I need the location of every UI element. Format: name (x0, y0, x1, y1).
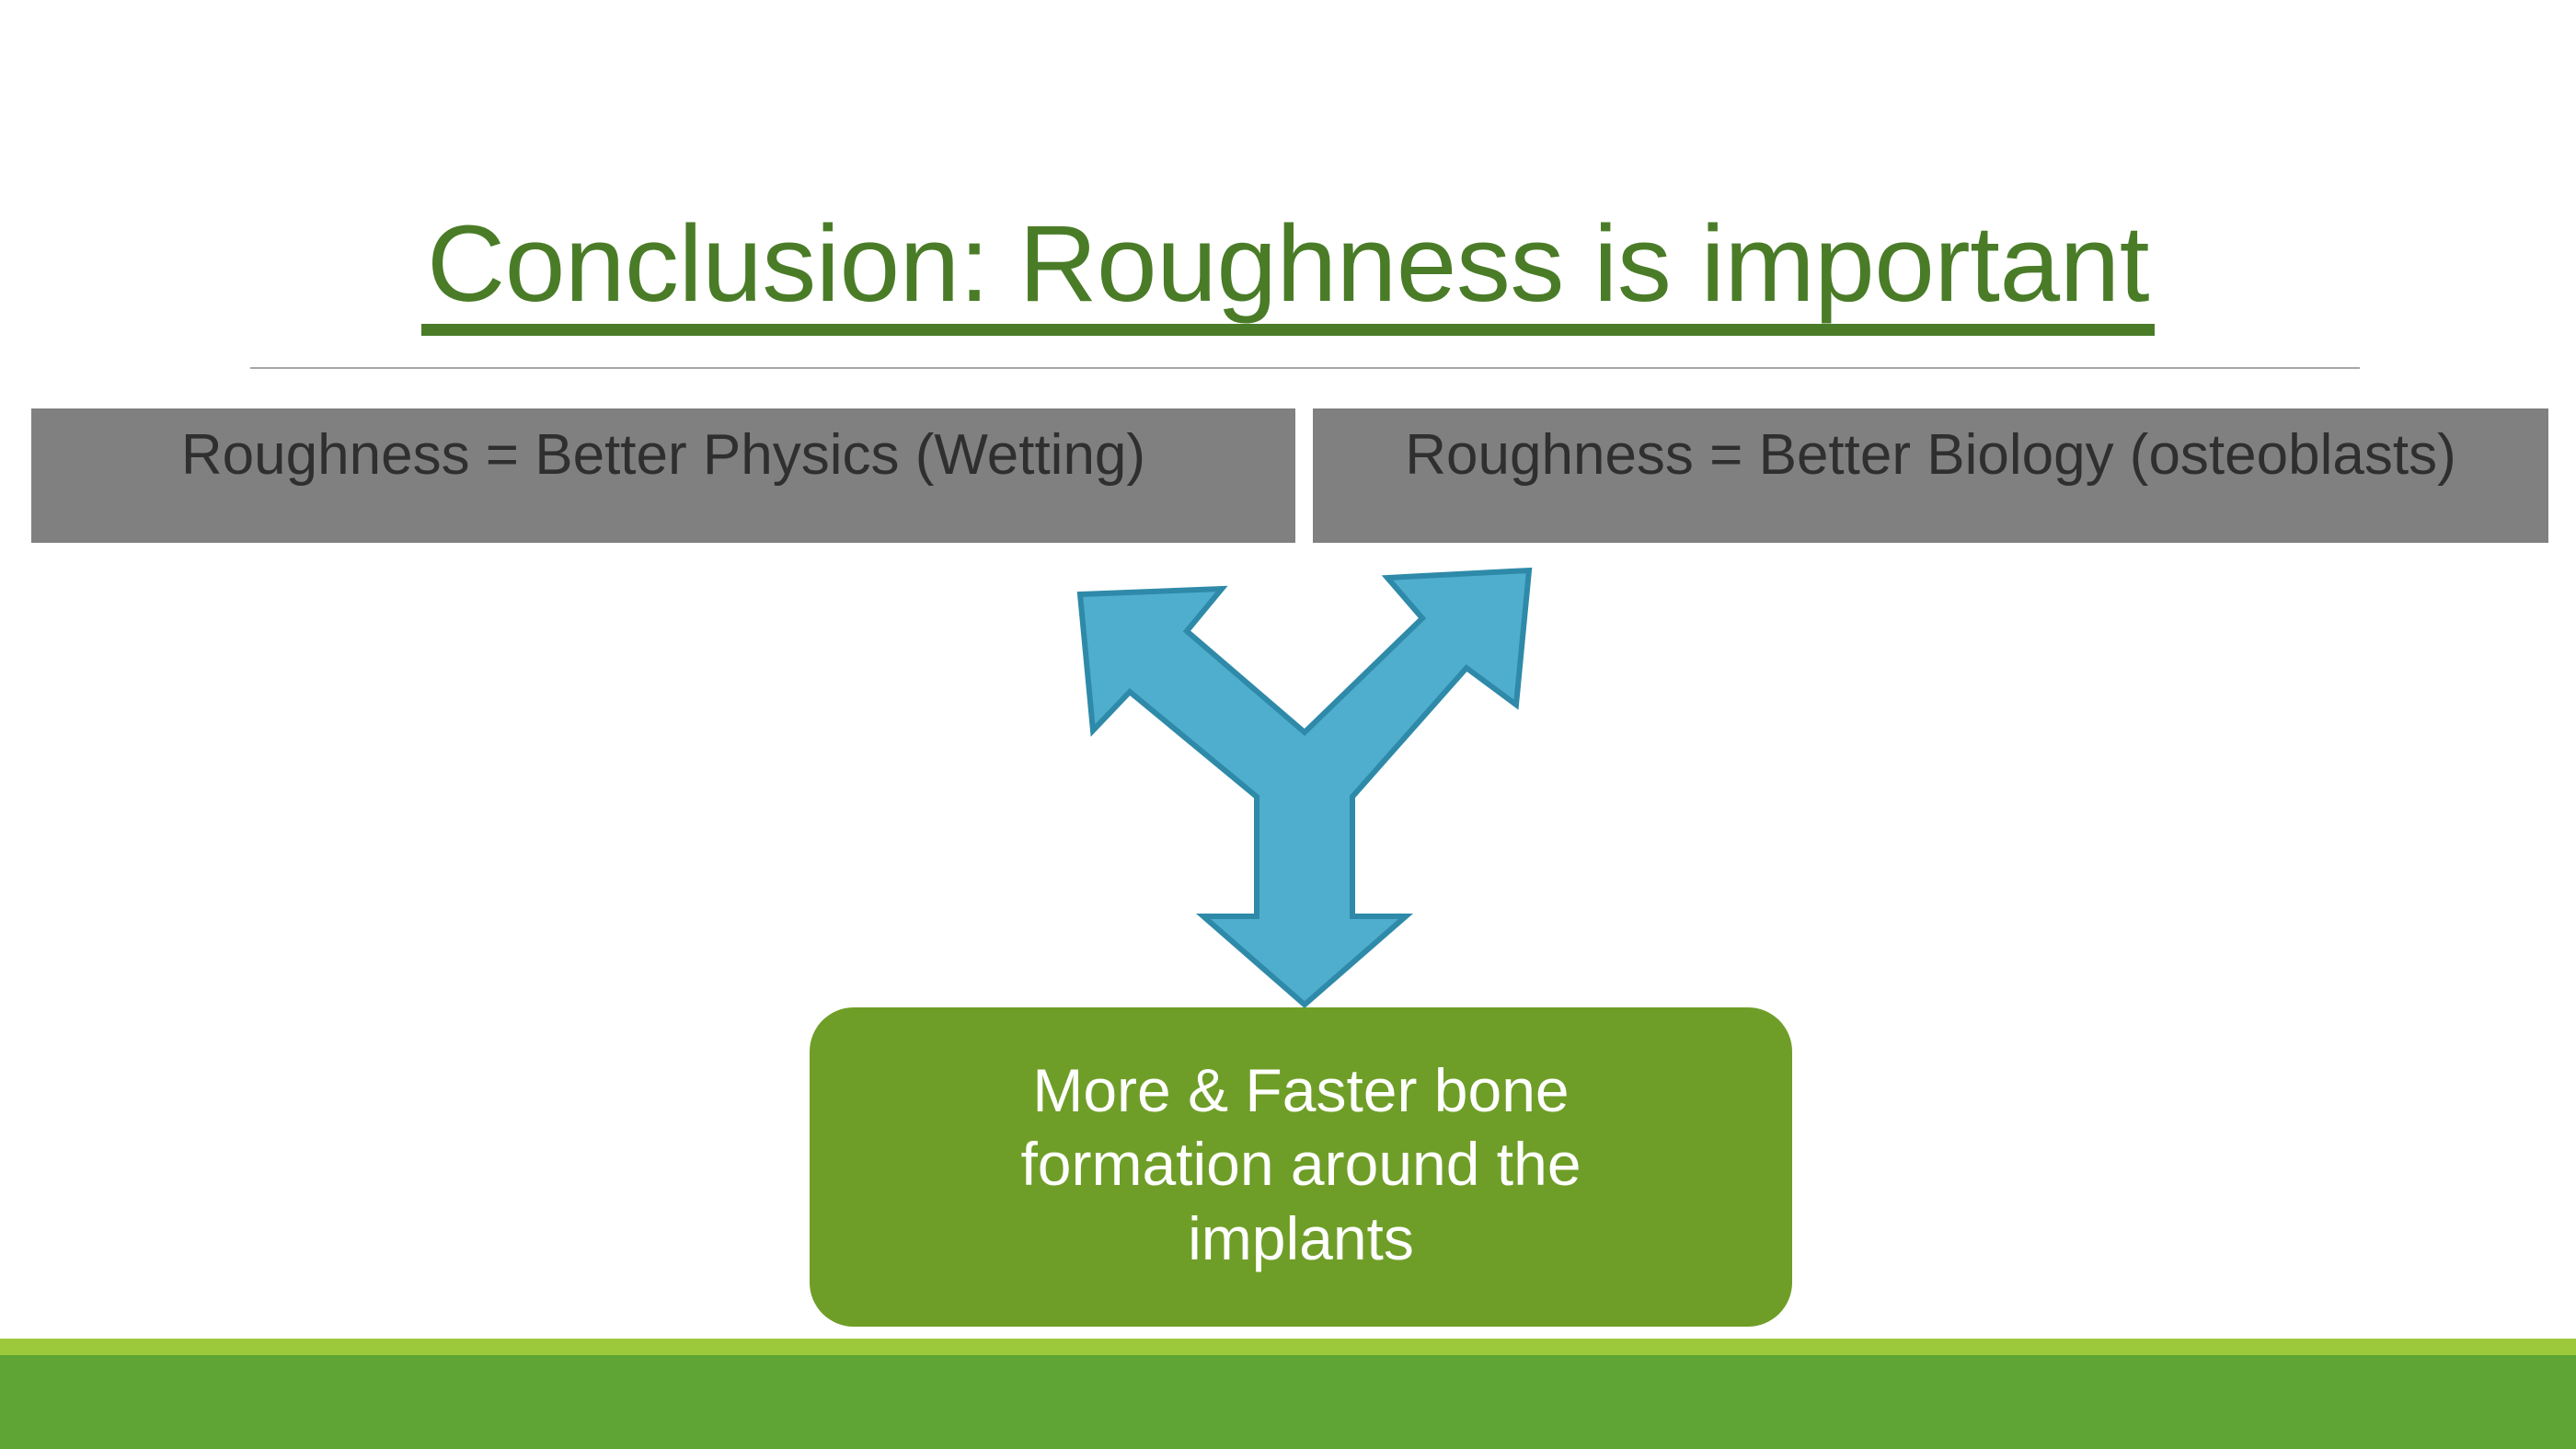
title-divider-rule (250, 367, 2360, 369)
footer-light-bar (0, 1339, 2576, 1355)
statement-box-physics: Roughness = Better Physics (Wetting) (31, 408, 1295, 543)
title-block: Conclusion: Roughness is important (0, 210, 2576, 336)
footer-dark-bar (0, 1355, 2576, 1449)
y-branch-merge-arrow-svg (1058, 552, 1536, 1012)
result-callout: More & Faster bone formation around the … (810, 1007, 1792, 1327)
result-line-3: implants (1188, 1202, 1414, 1276)
slide-canvas: Conclusion: Roughness is important Rough… (0, 0, 2576, 1449)
result-line-1: More & Faster bone (1032, 1053, 1569, 1128)
statement-box-biology: Roughness = Better Biology (osteoblasts) (1313, 408, 2548, 543)
statement-box-biology-label: Roughness = Better Biology (osteoblasts) (1405, 427, 2455, 484)
page-title: Conclusion: Roughness is important (421, 210, 2155, 336)
result-line-2: formation around the (1020, 1127, 1581, 1202)
y-branch-merge-arrow-icon (1058, 552, 1536, 1012)
statement-box-physics-label: Roughness = Better Physics (Wetting) (181, 427, 1145, 484)
